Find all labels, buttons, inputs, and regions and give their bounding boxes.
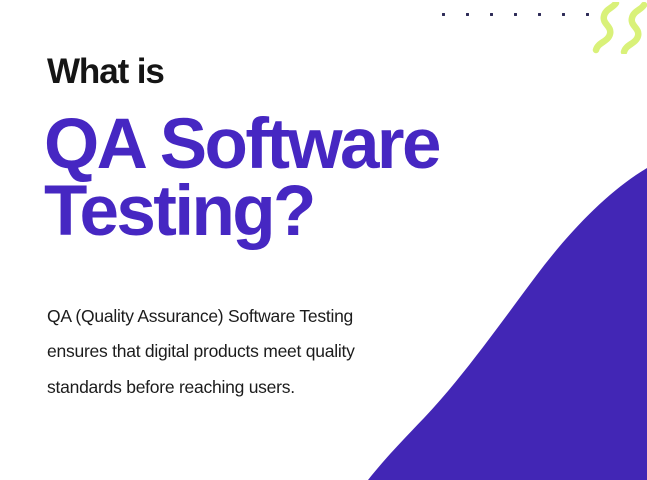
title-line-1: QA Software bbox=[44, 112, 624, 179]
page-title: QA Software Testing? bbox=[44, 112, 624, 245]
body-line-1: QA (Quality Assurance) Software Testing bbox=[47, 299, 497, 334]
dot-icon bbox=[490, 13, 493, 16]
title-line-2: Testing? bbox=[44, 179, 624, 246]
body-line-2: ensures that digital products meet quali… bbox=[47, 334, 497, 369]
eyebrow-heading: What is bbox=[47, 54, 164, 89]
dot-icon bbox=[538, 13, 541, 16]
dot-row-icon bbox=[442, 13, 589, 16]
dot-icon bbox=[442, 13, 445, 16]
dot-icon bbox=[586, 13, 589, 16]
squiggle-icon bbox=[592, 2, 647, 54]
body-line-3: standards before reaching users. bbox=[47, 370, 497, 405]
dot-icon bbox=[466, 13, 469, 16]
poster-canvas: What is QA Software Testing? QA (Quality… bbox=[0, 0, 647, 480]
dot-icon bbox=[562, 13, 565, 16]
dot-icon bbox=[514, 13, 517, 16]
body-paragraph: QA (Quality Assurance) Software Testing … bbox=[47, 299, 497, 405]
